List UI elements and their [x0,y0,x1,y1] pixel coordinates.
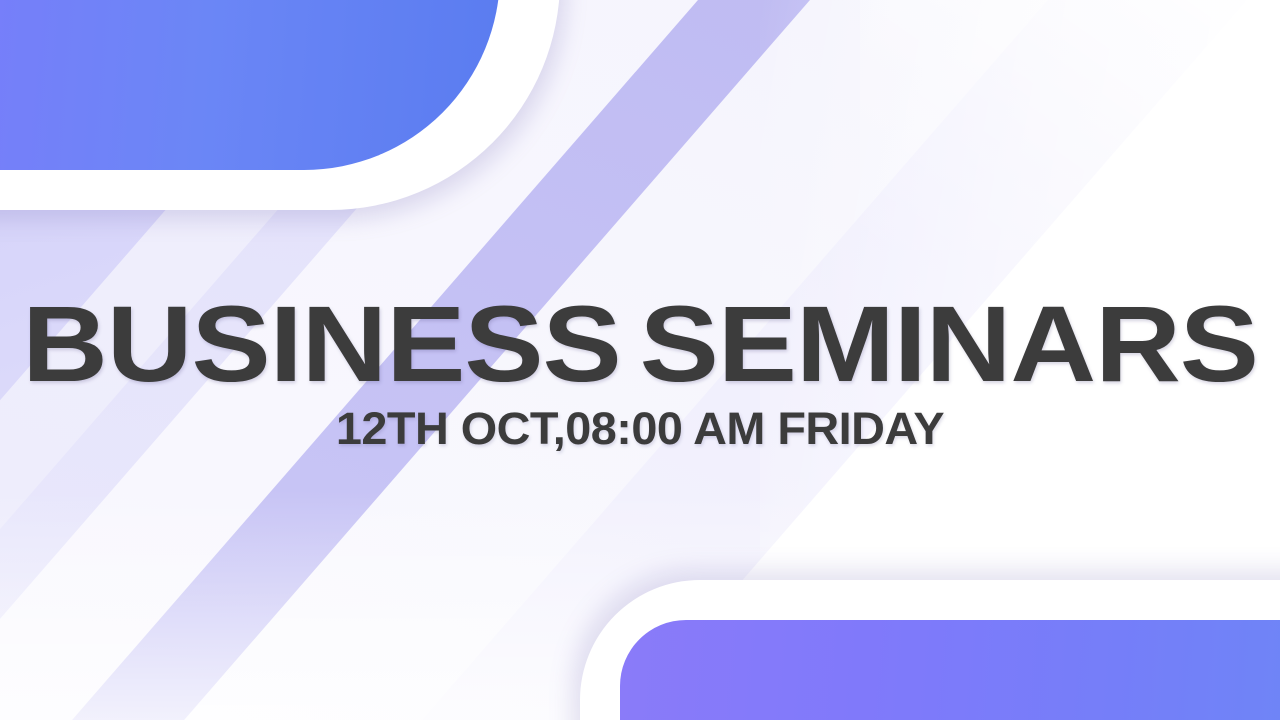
page-title-word-seminars: SEMINARS [640,283,1258,404]
event-banner: BUSINESSSEMINARS 12TH OCT,08:00 AM FRIDA… [0,0,1280,720]
banner-text-block: BUSINESSSEMINARS 12TH OCT,08:00 AM FRIDA… [0,290,1280,451]
page-title-word-business: BUSINESS [22,283,621,404]
event-datetime-subtitle: 12TH OCT,08:00 AM FRIDAY [0,406,1280,451]
page-title: BUSINESSSEMINARS [0,290,1280,398]
stripe-fade-top-right [860,0,1280,250]
bottom-right-gradient-panel [620,620,1280,720]
